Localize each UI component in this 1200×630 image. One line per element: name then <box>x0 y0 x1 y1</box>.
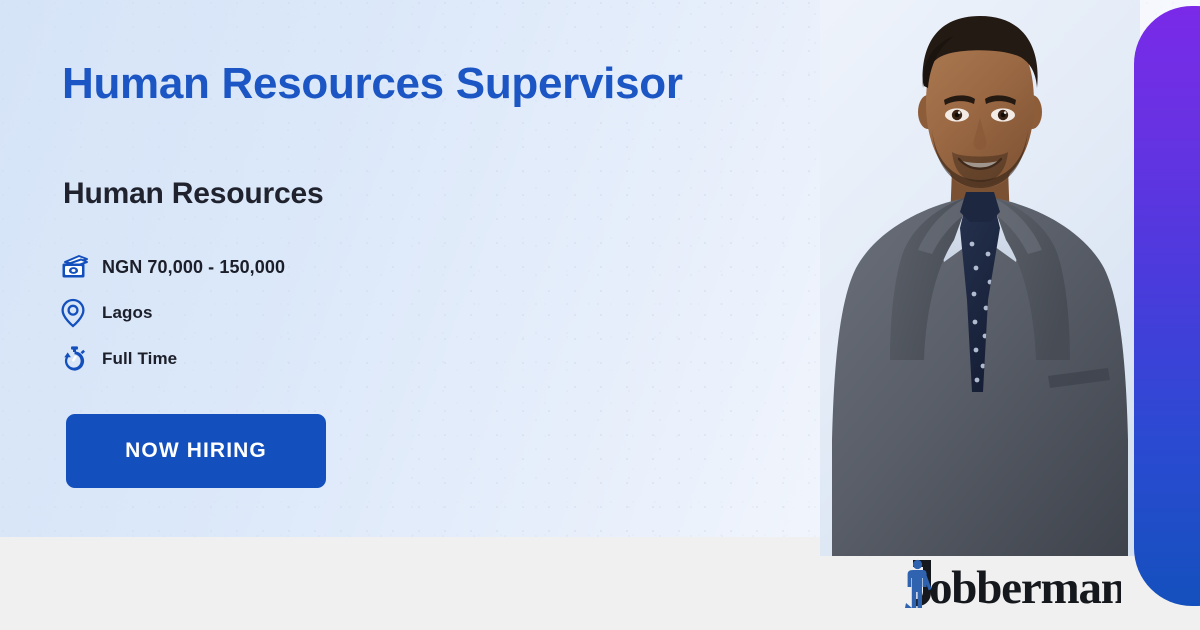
location-value: Lagos <box>102 303 153 323</box>
candidate-portrait-photo <box>820 0 1140 556</box>
brand-accent-panel <box>1134 6 1200 606</box>
job-detail-employment-type: Full Time <box>60 340 285 378</box>
job-details-list: NGN 70,000 - 150,000 Lagos <box>60 248 285 378</box>
money-icon <box>60 253 102 281</box>
job-category: Human Resources <box>63 177 323 211</box>
job-detail-location: Lagos <box>60 294 285 332</box>
stopwatch-icon <box>60 345 102 373</box>
logo-wordmark-text: obberman <box>929 562 1121 612</box>
location-icon <box>60 298 102 328</box>
job-ad-banner: Human Resources Supervisor Human Resourc… <box>0 0 1200 630</box>
employment-type-value: Full Time <box>102 349 177 369</box>
jobberman-logo: obberman <box>893 556 1121 612</box>
job-detail-salary: NGN 70,000 - 150,000 <box>60 248 285 286</box>
now-hiring-button[interactable]: NOW HIRING <box>66 414 326 488</box>
page-title: Human Resources Supervisor <box>62 60 782 108</box>
salary-value: NGN 70,000 - 150,000 <box>102 257 285 278</box>
